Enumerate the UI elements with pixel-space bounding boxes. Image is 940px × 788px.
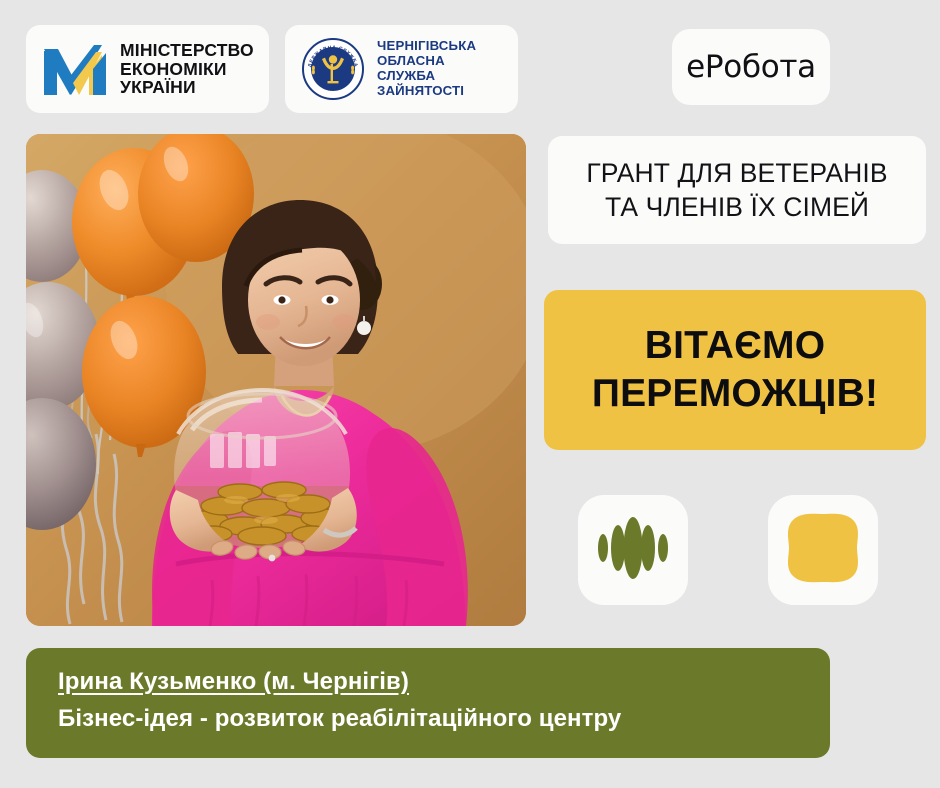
winner-name: Ірина Кузьменко (м. Чернігів) (58, 668, 409, 696)
grant-title-line-2: ТА ЧЛЕНІВ ЇХ СІМЕЙ (605, 190, 869, 224)
poster-canvas: МІНІСТЕРСТВО ЕКОНОМІКИ УКРАЇНИ (0, 0, 940, 788)
winner-caption-bar: Ірина Кузьменко (м. Чернігів) Бізнес-іде… (26, 648, 830, 758)
employment-line-3: СЛУЖБА (377, 69, 476, 84)
winner-photo (26, 134, 526, 626)
ministry-line-3: УКРАЇНИ (120, 78, 254, 97)
business-idea: Бізнес-ідея - розвиток реабілітаційного … (58, 705, 830, 733)
four-point-star-tile (768, 495, 878, 605)
ellipse-cluster-icon (595, 510, 671, 591)
employment-line-2: ОБЛАСНА (377, 54, 476, 69)
ministry-line-2: ЕКОНОМІКИ (120, 60, 254, 79)
erobota-label: eРобота (686, 49, 816, 85)
ministry-logo-text: МІНІСТЕРСТВО ЕКОНОМІКИ УКРАЇНИ (120, 41, 254, 97)
ministry-logo-card: МІНІСТЕРСТВО ЕКОНОМІКИ УКРАЇНИ (26, 25, 269, 113)
ministry-of-economy-mark-icon (44, 43, 106, 95)
employment-line-4: ЗАЙНЯТОСТІ (377, 84, 476, 99)
state-employment-service-emblem-icon: ДЕРЖАВНА СЛУЖБА ЗАЙНЯТОСТІ (301, 37, 365, 101)
four-point-star-icon (785, 510, 861, 591)
grant-title-line-1: ГРАНТ ДЛЯ ВЕТЕРАНІВ (586, 156, 887, 190)
erobota-badge: eРобота (672, 29, 830, 105)
employment-service-logo-card: ДЕРЖАВНА СЛУЖБА ЗАЙНЯТОСТІ ЧЕРНІГІВСЬКА … (285, 25, 518, 113)
grant-title-card: ГРАНТ ДЛЯ ВЕТЕРАНІВ ТА ЧЛЕНІВ ЇХ СІМЕЙ (548, 136, 926, 244)
ellipse-cluster-tile (578, 495, 688, 605)
congrats-line-2: ПЕРЕМОЖЦІВ! (592, 370, 878, 418)
congrats-line-1: ВІТАЄМО (645, 322, 826, 370)
ministry-line-1: МІНІСТЕРСТВО (120, 41, 254, 60)
employment-logo-text: ЧЕРНІГІВСЬКА ОБЛАСНА СЛУЖБА ЗАЙНЯТОСТІ (377, 39, 476, 98)
employment-line-1: ЧЕРНІГІВСЬКА (377, 39, 476, 54)
congratulations-card: ВІТАЄМО ПЕРЕМОЖЦІВ! (544, 290, 926, 450)
